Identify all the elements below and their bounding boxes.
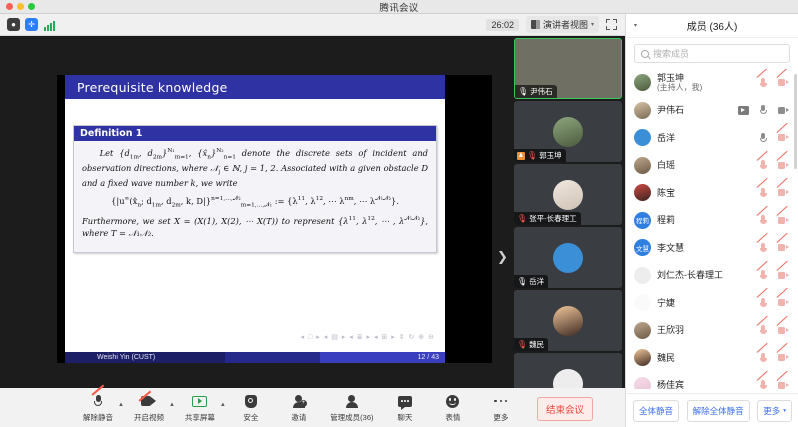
security-label: 安全: [243, 412, 258, 423]
unmute-all-button[interactable]: 解除全体静音: [687, 400, 750, 422]
participant-name: 张平-长春理工: [529, 213, 577, 224]
search-icon: [641, 50, 649, 58]
panel-more-button[interactable]: 更多 ▾: [757, 400, 792, 422]
meeting-toolbar: ● ✛ 26:02 演讲者视图 ▾: [0, 14, 625, 36]
avatar: [634, 349, 651, 366]
avatar: [634, 74, 651, 91]
list-item[interactable]: 尹伟石: [626, 97, 798, 125]
list-item[interactable]: 刘仁杰-长春理工: [626, 262, 798, 290]
mic-icon[interactable]: [758, 132, 769, 143]
participants-scrollbar[interactable]: [794, 74, 797, 169]
video-tile[interactable]: ♟ 🎙 郭玉坤: [514, 101, 622, 162]
emoji-label: 表情: [445, 412, 460, 423]
participant-name: 宁婕: [657, 298, 752, 308]
mic-muted-icon[interactable]: [758, 270, 769, 281]
definition-paragraph-1: Let {d1m, d2m}N₁m=1, {x̂n}N₂n=1 denote t…: [82, 147, 428, 189]
avatar: [553, 243, 583, 273]
list-item[interactable]: 岳洋: [626, 124, 798, 152]
participant-name: 白瑶: [657, 160, 752, 170]
avatar: [553, 117, 583, 147]
layout-icon: [531, 20, 540, 29]
list-item[interactable]: 陈宝: [626, 179, 798, 207]
camera-off-icon: [141, 396, 156, 406]
search-placeholder: 搜索成员: [653, 47, 689, 60]
list-item[interactable]: 白瑶: [626, 152, 798, 180]
more-button[interactable]: 更多: [477, 393, 525, 423]
view-mode-label: 演讲者视图: [543, 18, 588, 31]
security-button[interactable]: 安全: [227, 393, 275, 423]
camera-muted-icon[interactable]: [778, 325, 789, 336]
video-tile[interactable]: [514, 353, 622, 388]
camera-muted-icon[interactable]: [778, 160, 789, 171]
emoji-button[interactable]: 表情: [429, 393, 477, 423]
slide-title: Prerequisite knowledge: [65, 75, 445, 99]
video-thumbnail-strip[interactable]: 🎙 尹伟石 ♟ 🎙 郭玉坤 🎙 张平-长春理工 🎙 岳洋: [511, 36, 625, 388]
participant-name: 李文慧: [657, 243, 752, 253]
mute-all-button[interactable]: 全体静音: [633, 400, 679, 422]
list-item[interactable]: 文慧 李文慧: [626, 234, 798, 262]
chevron-down-icon: ▾: [783, 408, 786, 414]
mic-icon: 🎙: [518, 88, 528, 96]
participant-name: 程莉: [657, 215, 752, 225]
emoji-icon: [446, 395, 459, 408]
camera-muted-icon[interactable]: [778, 132, 789, 143]
video-options-caret-icon[interactable]: ▲: [169, 402, 175, 408]
mic-muted-icon: 🎙: [517, 341, 527, 349]
participant-name: 魏民: [657, 353, 752, 363]
manage-members-button[interactable]: 管理成员(36): [323, 393, 381, 423]
mic-muted-icon[interactable]: [758, 297, 769, 308]
more-icon: [494, 400, 507, 403]
camera-muted-icon[interactable]: [778, 352, 789, 363]
list-item[interactable]: 程莉 程莉: [626, 207, 798, 235]
mic-muted-icon[interactable]: [758, 160, 769, 171]
definition-block: Definition 1 Let {d1m, d2m}N₁m=1, {x̂n}N…: [73, 125, 437, 253]
collapse-strip-icon[interactable]: ❯: [497, 250, 508, 265]
avatar: [553, 369, 583, 389]
definition-body: Let {d1m, d2m}N₁m=1, {x̂n}N₂n=1 denote t…: [74, 141, 436, 252]
participants-count-title: 成员 (36人): [626, 18, 798, 33]
slide-page-number: 12 / 43: [320, 352, 445, 363]
slide-nav-controls[interactable]: ◂ □ ▸ ◂ ▤ ▸ ◂ ≣ ▸ ◂ ⊞ ▸ ⇕ ↻ ⊕ ⊖: [301, 333, 435, 341]
shield-icon[interactable]: ✛: [25, 18, 38, 31]
participant-name: 杨佳宾: [657, 380, 752, 389]
sharing-screen-icon: [738, 106, 749, 115]
participants-panel: ▾ 成员 (36人) 搜索成员 郭玉坤 (主持人，我) 尹伟石: [625, 14, 798, 427]
mic-muted-icon[interactable]: [758, 215, 769, 226]
camera-muted-icon[interactable]: [778, 270, 789, 281]
mic-muted-icon: 🎙: [517, 215, 527, 223]
participant-role: (主持人，我): [657, 83, 752, 92]
slide-author: Weishi Yin (CUST): [65, 354, 225, 361]
share-screen-button[interactable]: 共享屏幕: [176, 393, 224, 423]
share-screen-icon: [192, 396, 207, 407]
definition-paragraph-2: Furthermore, we set X = (X(1), X(2), ⋯ X…: [82, 215, 428, 239]
unmute-button[interactable]: 解除静音: [74, 393, 122, 423]
slide-progress-bar: [225, 352, 320, 363]
search-input[interactable]: 搜索成员: [634, 44, 790, 63]
mic-muted-icon[interactable]: [758, 187, 769, 198]
video-tile[interactable]: 🎙 尹伟石: [514, 38, 622, 99]
video-tile-label: 🎙 魏民: [514, 338, 548, 351]
start-video-button[interactable]: 开启视频: [125, 393, 173, 423]
share-screen-label: 共享屏幕: [185, 412, 215, 423]
chat-label: 聊天: [397, 412, 412, 423]
avatar: [634, 377, 651, 389]
control-bar: 解除静音 ▲ 开启视频 ▲ 共享屏幕 ▲ 安全 + 邀请: [0, 388, 625, 427]
camera-muted-icon[interactable]: [778, 297, 789, 308]
title-bar: 腾讯会议: [0, 0, 798, 14]
participant-name: 陈宝: [657, 188, 752, 198]
share-options-caret-icon[interactable]: ▲: [220, 402, 226, 408]
list-item[interactable]: 郭玉坤 (主持人，我): [626, 69, 798, 97]
more-label: 更多: [493, 412, 508, 423]
avatar: [634, 267, 651, 284]
camera-muted-icon[interactable]: [778, 215, 789, 226]
mic-muted-icon[interactable]: [758, 77, 769, 88]
participant-name: 魏民: [529, 339, 544, 350]
shield-icon: [245, 395, 257, 408]
avatar: [634, 184, 651, 201]
video-tile-label: 🎙 张平-长春理工: [514, 212, 581, 225]
invite-button[interactable]: + 邀请: [275, 393, 323, 423]
participant-name: 刘仁杰-长春理工: [657, 270, 752, 280]
camera-muted-icon[interactable]: [778, 380, 789, 389]
participant-name: 郭玉坤: [539, 150, 562, 161]
invite-label: 邀请: [291, 412, 306, 423]
slide-footer: Weishi Yin (CUST) 12 / 43: [65, 352, 445, 363]
chat-button[interactable]: 聊天: [381, 393, 429, 423]
mic-muted-icon[interactable]: [758, 380, 769, 389]
video-tile-label: ♟ 🎙 郭玉坤: [514, 149, 566, 162]
panel-more-label: 更多: [763, 405, 780, 417]
record-icon[interactable]: ●: [7, 18, 20, 31]
camera-muted-icon[interactable]: [778, 187, 789, 198]
manage-members-icon: [345, 395, 359, 408]
mic-muted-icon[interactable]: [758, 352, 769, 363]
participant-name-block: 郭玉坤 (主持人，我): [657, 73, 752, 93]
audio-options-caret-icon[interactable]: ▲: [118, 402, 124, 408]
avatar: [634, 322, 651, 339]
video-tile-label: 🎙 岳洋: [514, 275, 548, 288]
definition-title: Definition 1: [74, 126, 436, 141]
manage-members-label: 管理成员(36): [330, 412, 373, 423]
camera-muted-icon[interactable]: [778, 77, 789, 88]
chevron-down-icon[interactable]: ▾: [591, 21, 594, 28]
video-tile[interactable]: 🎙 岳洋: [514, 227, 622, 288]
chat-icon: [398, 396, 412, 407]
avatar: 程莉: [634, 212, 651, 229]
unmute-label: 解除静音: [83, 412, 113, 423]
avatar: [634, 102, 651, 119]
video-tile[interactable]: 🎙 张平-长春理工: [514, 164, 622, 225]
mic-icon: 🎙: [517, 278, 527, 286]
mic-muted-icon[interactable]: [758, 325, 769, 336]
participant-name: 岳洋: [529, 276, 544, 287]
participant-name: 郭玉坤: [657, 73, 752, 83]
window-title: 腾讯会议: [0, 0, 798, 14]
camera-muted-icon[interactable]: [778, 242, 789, 253]
participant-name: 尹伟石: [530, 86, 553, 97]
start-video-label: 开启视频: [134, 412, 164, 423]
meeting-window: 腾讯会议 ● ✛ 26:02 演讲者视图 ▾ Prerequisite know…: [0, 0, 798, 427]
end-meeting-button[interactable]: 结束会议: [537, 397, 593, 421]
list-item[interactable]: 王欣羽: [626, 317, 798, 345]
view-mode-selector[interactable]: 演讲者视图 ▾: [526, 16, 599, 33]
avatar: 文慧: [634, 239, 651, 256]
participant-name: 岳洋: [657, 133, 752, 143]
participant-name: 尹伟石: [657, 105, 732, 115]
participants-list[interactable]: 郭玉坤 (主持人，我) 尹伟石 岳洋: [626, 69, 798, 389]
panel-collapse-icon[interactable]: ▾: [634, 22, 637, 29]
avatar: [634, 294, 651, 311]
avatar: [553, 306, 583, 336]
shared-slide-frame: Prerequisite knowledge Definition 1 Let …: [57, 75, 492, 363]
network-signal-icon[interactable]: [43, 18, 56, 31]
mic-muted-icon[interactable]: [758, 242, 769, 253]
camera-icon[interactable]: [778, 105, 789, 116]
definition-equation-1: {|u∞(x̂n; d1m, d2m, k, D|}n=1,…,𝒩₂m=1,…,…: [82, 195, 428, 210]
participants-panel-footer: 全体静音 解除全体静音 更多 ▾: [626, 393, 798, 427]
mic-muted-icon: 🎙: [527, 152, 537, 160]
host-badge-icon: ♟: [517, 152, 525, 160]
list-item[interactable]: 宁婕: [626, 289, 798, 317]
avatar: [634, 157, 651, 174]
participants-panel-header: ▾ 成员 (36人): [626, 14, 798, 38]
list-item[interactable]: 杨佳宾: [626, 372, 798, 390]
slide: Prerequisite knowledge Definition 1 Let …: [65, 75, 445, 363]
video-tile[interactable]: 🎙 魏民: [514, 290, 622, 351]
avatar: [553, 180, 583, 210]
list-item[interactable]: 魏民: [626, 344, 798, 372]
meeting-timer: 26:02: [486, 19, 519, 31]
fullscreen-icon[interactable]: [606, 19, 617, 30]
video-tile-label: 🎙 尹伟石: [515, 85, 557, 98]
avatar: [634, 129, 651, 146]
mic-icon[interactable]: [758, 105, 769, 116]
invite-icon: +: [292, 395, 306, 408]
mic-muted-icon: [94, 395, 103, 408]
participant-name: 王欣羽: [657, 325, 752, 335]
